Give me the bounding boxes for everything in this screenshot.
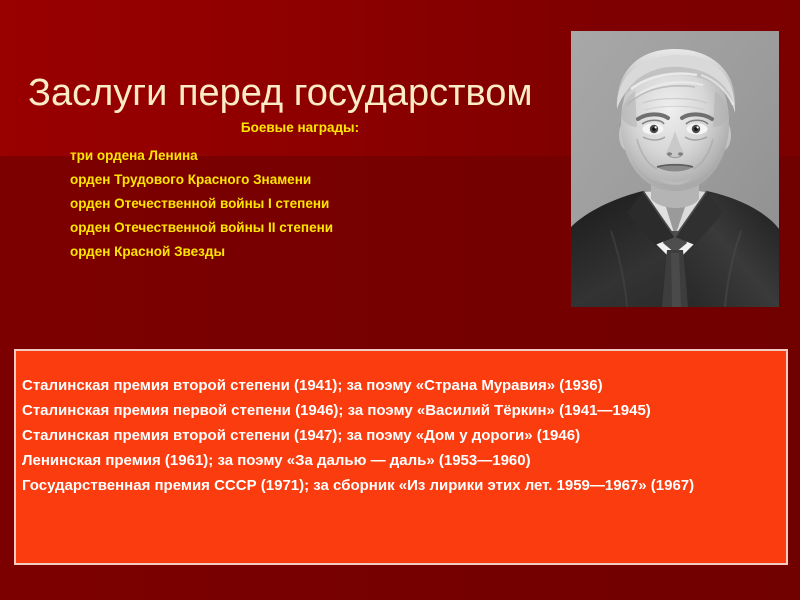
portrait-photo	[571, 31, 779, 307]
list-item: орден Отечественной войны II степени	[60, 216, 510, 240]
slide-canvas: Заслуги перед государством Боевые наград…	[0, 0, 800, 600]
page-title: Заслуги перед государством	[28, 71, 573, 115]
awards-list: Боевые награды: три ордена Ленина орден …	[60, 118, 510, 264]
list-item: Ленинская премия (1961); за поэму «За да…	[22, 448, 782, 473]
awards-heading: Боевые награды:	[60, 118, 510, 138]
state-prizes-box: Сталинская премия второй степени (1941);…	[14, 349, 788, 565]
list-item: Государственная премия СССР (1971); за с…	[22, 473, 782, 498]
list-item: орден Трудового Красного Знамени	[60, 168, 510, 192]
list-item: орден Отечественной войны I степени	[60, 192, 510, 216]
list-item: Сталинская премия первой степени (1946);…	[22, 398, 782, 423]
list-item: Сталинская премия второй степени (1941);…	[22, 373, 782, 398]
list-item: три ордена Ленина	[60, 144, 510, 168]
list-item: Сталинская премия второй степени (1947);…	[22, 423, 782, 448]
prizes-list: Сталинская премия второй степени (1941);…	[22, 373, 782, 498]
list-item: орден Красной Звезды	[60, 240, 510, 264]
